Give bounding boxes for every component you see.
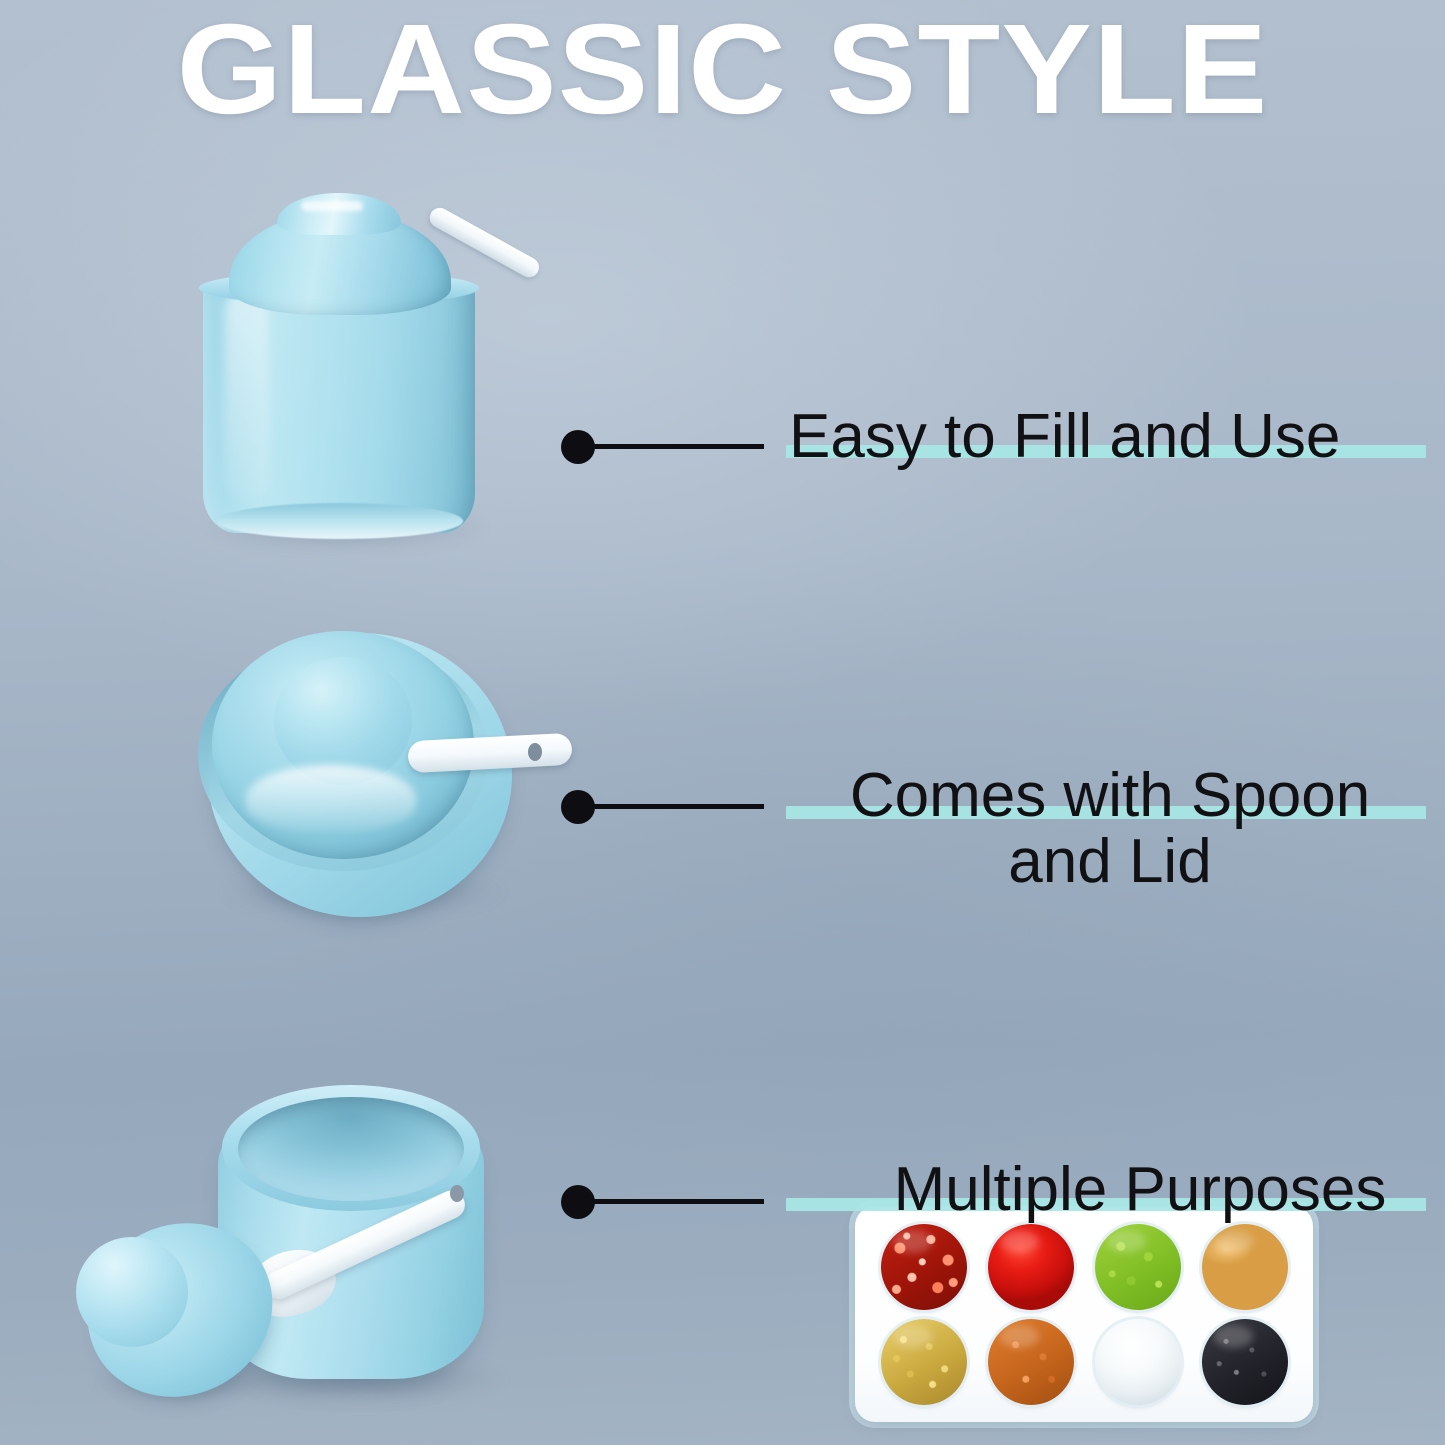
product-infographic-poster: GLASSIC STYLE bbox=[0, 0, 1445, 1445]
callout-leader-line bbox=[586, 1199, 764, 1204]
callout-label: Multiple Purposes bbox=[840, 1157, 1440, 1223]
callout-multiple-purposes: Multiple Purposes bbox=[0, 0, 1445, 1445]
